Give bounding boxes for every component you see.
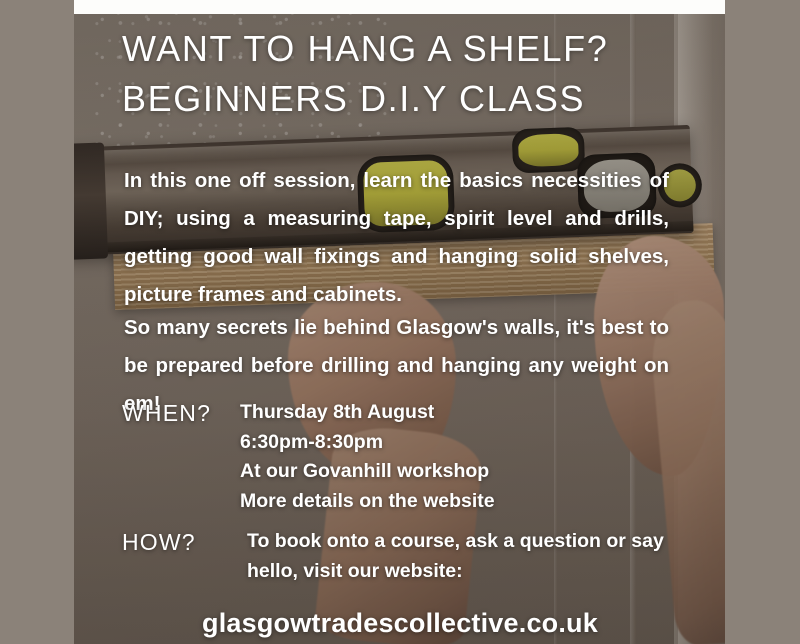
when-line-date: Thursday 8th August [240, 398, 495, 428]
when-details: Thursday 8th August 6:30pm-8:30pm At our… [240, 398, 495, 516]
when-line-more: More details on the website [240, 487, 495, 517]
when-block: WHEN? Thursday 8th August 6:30pm-8:30pm … [122, 398, 495, 516]
intro-paragraph: In this one off session, learn the basic… [124, 162, 669, 314]
headline-line-1: WANT TO HANG A SHELF? [122, 24, 722, 74]
poster: WANT TO HANG A SHELF? BEGINNERS D.I.Y CL… [0, 0, 800, 644]
website-url[interactable]: glasgowtradescollective.co.uk [0, 608, 800, 639]
how-label: HOW? [122, 527, 247, 557]
poster-content: WANT TO HANG A SHELF? BEGINNERS D.I.Y CL… [0, 0, 800, 644]
when-label: WHEN? [122, 398, 240, 428]
when-line-time: 6:30pm-8:30pm [240, 428, 495, 458]
when-line-location: At our Govanhill workshop [240, 457, 495, 487]
how-details: To book onto a course, ask a question or… [247, 527, 677, 586]
headline-line-2: BEGINNERS D.I.Y CLASS [122, 74, 722, 124]
how-block: HOW? To book onto a course, ask a questi… [122, 527, 677, 586]
page-title: WANT TO HANG A SHELF? BEGINNERS D.I.Y CL… [122, 24, 722, 124]
how-line-booking: To book onto a course, ask a question or… [247, 527, 677, 586]
